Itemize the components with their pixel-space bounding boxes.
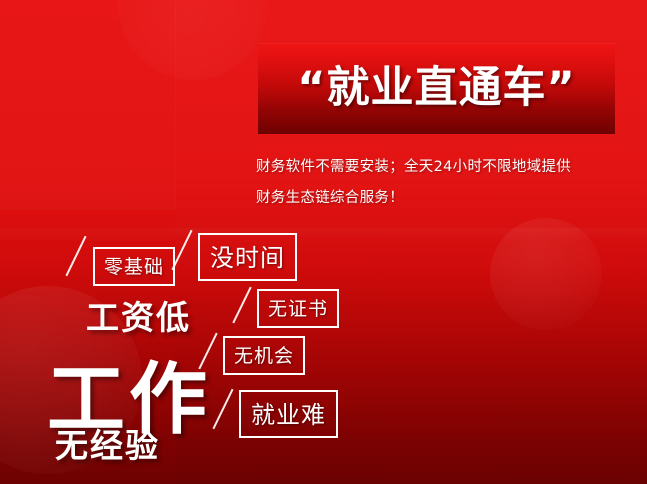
- emphasis-label: 工资低: [86, 298, 191, 337]
- promo-poster: “就业直通车” 财务软件不需要安装；全天24小时不限地域提供 财务生态链综合服务…: [0, 0, 647, 484]
- subtitle-line-2: 财务生态链综合服务！: [256, 183, 636, 214]
- emphasis-label: 无经验: [55, 426, 160, 465]
- pain-point-label: 无证书: [268, 294, 328, 321]
- pain-point-box-no-time: 没时间: [198, 233, 297, 281]
- banner-title: “就业直通车”: [297, 67, 576, 110]
- emphasis-word-low-salary: 工资低: [86, 291, 191, 339]
- pain-point-label: 零基础: [104, 252, 164, 279]
- emphasis-word-no-experience: 无经验: [55, 419, 160, 467]
- pain-point-label: 没时间: [210, 238, 285, 273]
- pain-point-box-hard-employment: 就业难: [239, 390, 338, 438]
- subtitle-block: 财务软件不需要安装；全天24小时不限地域提供 财务生态链综合服务！: [256, 152, 636, 214]
- pain-point-box-no-certificate: 无证书: [257, 289, 339, 328]
- pain-point-box-zero-basis: 零基础: [93, 247, 175, 286]
- pain-point-box-no-opportunity: 无机会: [223, 336, 305, 375]
- subtitle-line-1: 财务软件不需要安装；全天24小时不限地域提供: [256, 152, 636, 183]
- header-banner: “就业直通车”: [258, 43, 615, 134]
- pain-point-label: 就业难: [251, 395, 326, 430]
- decorative-circle-right: [490, 218, 602, 330]
- pain-point-label: 无机会: [234, 341, 294, 368]
